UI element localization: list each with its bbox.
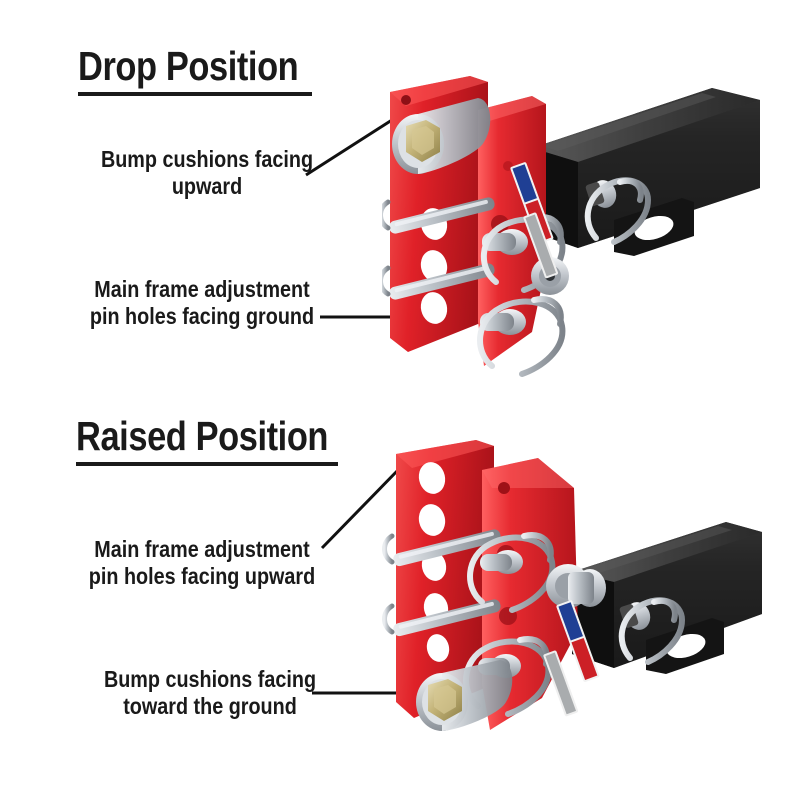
callout-line-1: Main frame adjustment (73, 536, 331, 563)
section-title-underline-drop (78, 92, 312, 96)
callout-line-2: upward (82, 173, 331, 200)
product-image-hitch-drop (382, 70, 762, 400)
callout-line-1: Bump cushions facing (81, 666, 339, 693)
callout-line-2: pin holes facing ground (73, 303, 331, 330)
callout-line-2: pin holes facing upward (73, 563, 331, 590)
callout-line-1: Main frame adjustment (73, 276, 331, 303)
section-title-drop-position: Drop Position (78, 46, 298, 87)
callout-line-2: toward the ground (81, 693, 339, 720)
hitch-raised-illustration (382, 430, 762, 760)
section-title-raised-position: Raised Position (76, 416, 328, 457)
callout-pin-holes-up: Main frame adjustment pin holes facing u… (73, 536, 331, 590)
product-image-hitch-raised (382, 430, 762, 760)
callout-line-1: Bump cushions facing (82, 146, 331, 173)
section-title-underline-raised (76, 462, 338, 466)
callout-pin-holes-ground: Main frame adjustment pin holes facing g… (73, 276, 331, 330)
diagram-canvas: Drop Position Bump cushions facing upwar… (0, 0, 800, 800)
callout-bump-cushions-ground: Bump cushions facing toward the ground (81, 666, 339, 720)
callout-bump-cushions-up: Bump cushions facing upward (82, 146, 331, 200)
hitch-drop-illustration (382, 70, 762, 400)
